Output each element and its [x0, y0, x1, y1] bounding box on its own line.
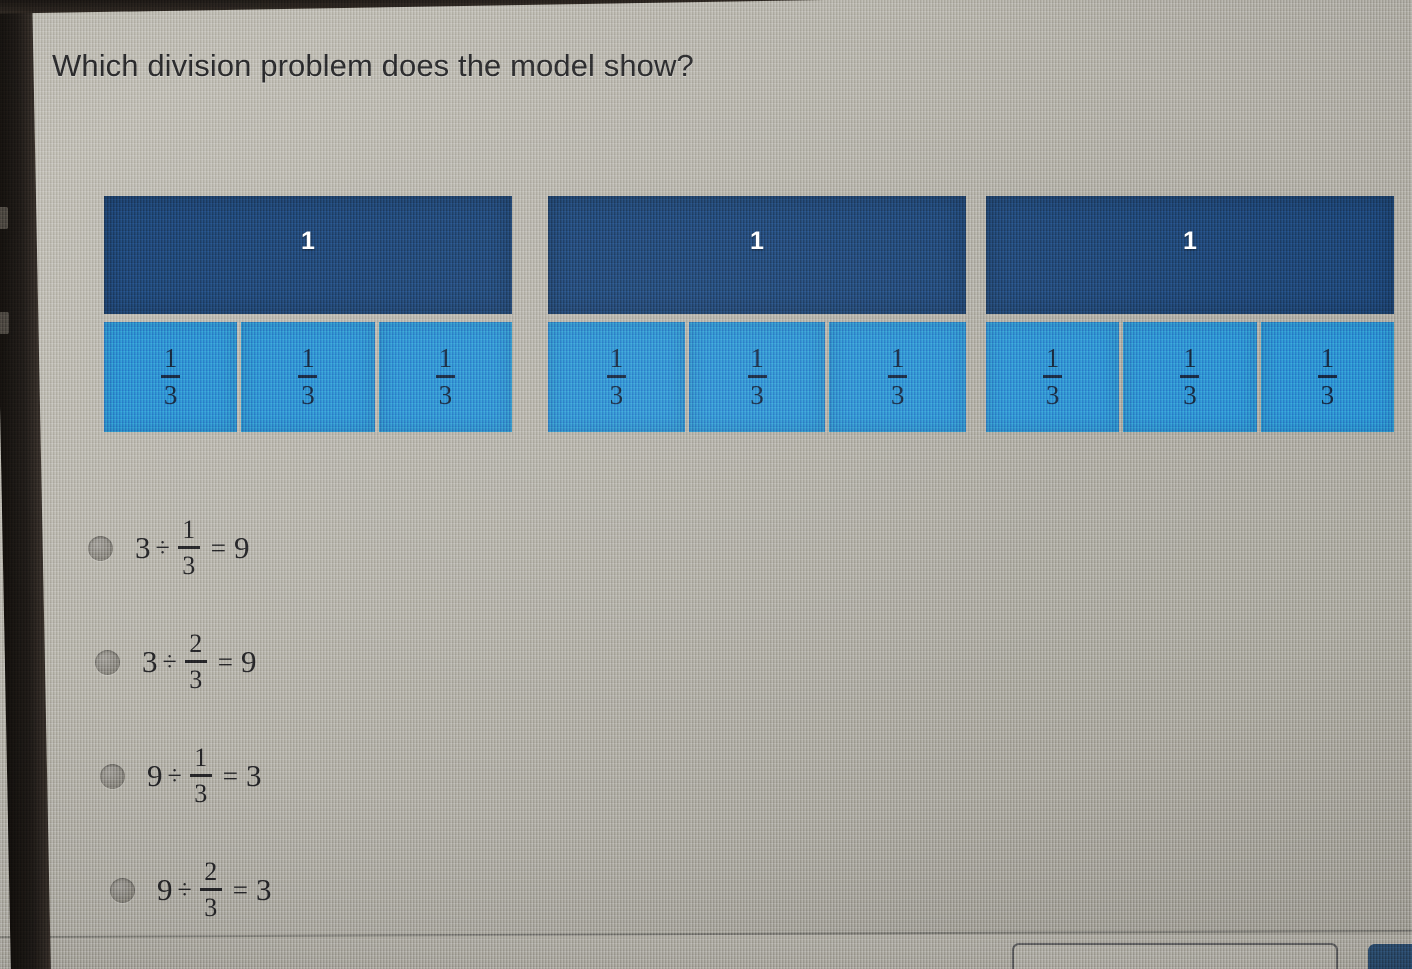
fraction-denominator: 3 [204, 892, 217, 921]
page-title: Which division problem does the model sh… [52, 48, 694, 84]
fraction-denominator: 3 [1321, 379, 1335, 409]
answer-option-label: 9 ÷ 2 3 = 3 [157, 859, 272, 921]
bar-group: 1 1 3 1 3 [104, 196, 512, 432]
fraction-denominator: 3 [610, 379, 624, 409]
fraction-denominator: 3 [182, 550, 195, 579]
radio-button-icon[interactable] [110, 878, 135, 903]
part-cell: 1 3 [241, 322, 374, 432]
fraction-denominator: 3 [164, 379, 178, 409]
parts-row: 1 3 1 3 1 [548, 322, 966, 432]
fraction-bar [888, 375, 907, 378]
fraction-bar [200, 888, 222, 891]
fraction-numerator: 1 [301, 345, 315, 372]
bezel-notch [0, 207, 8, 229]
whole-bar-label: 1 [750, 227, 764, 256]
dividend: 3 [135, 530, 151, 566]
fraction-bar [190, 774, 212, 777]
quotient: 3 [256, 872, 272, 908]
fraction-denominator: 3 [1046, 379, 1060, 409]
answer-option[interactable]: 3 ÷ 1 3 = 9 [88, 518, 250, 578]
fraction: 1 3 [161, 345, 180, 409]
equals-icon: = [211, 533, 226, 564]
fraction-bar [161, 375, 180, 378]
fraction-numerator: 1 [610, 345, 624, 372]
part-cell: 1 3 [1123, 322, 1256, 432]
part-cell: 1 3 [379, 322, 512, 432]
fraction-bar [607, 375, 626, 378]
divisor-fraction: 1 3 [190, 745, 212, 807]
divisor-fraction: 2 3 [185, 631, 207, 693]
bar-group: 1 1 3 1 3 [548, 196, 966, 432]
whole-bar: 1 [986, 196, 1394, 314]
parts-row: 1 3 1 3 1 [986, 322, 1394, 432]
fraction-bar [298, 375, 317, 378]
fraction-denominator: 3 [1183, 379, 1197, 409]
answer-option[interactable]: 9 ÷ 2 3 = 3 [110, 860, 272, 920]
radio-button-icon[interactable] [100, 764, 125, 789]
fraction-denominator: 3 [194, 778, 207, 807]
fraction: 1 3 [1318, 345, 1337, 409]
fraction-numerator: 1 [1321, 345, 1335, 372]
whole-bar: 1 [104, 196, 512, 314]
answer-option-label: 3 ÷ 2 3 = 9 [142, 631, 257, 693]
screenshot-root: Which division problem does the model sh… [0, 0, 1412, 969]
part-cell: 1 3 [689, 322, 826, 432]
fraction-numerator: 1 [1183, 345, 1197, 372]
quotient: 9 [234, 530, 250, 566]
fraction: 1 3 [607, 345, 626, 409]
equals-icon: = [218, 647, 233, 678]
bezel-notch [0, 312, 9, 334]
fraction-denominator: 3 [189, 664, 202, 693]
fraction-numerator: 1 [182, 517, 195, 543]
radio-button-icon[interactable] [95, 650, 120, 675]
radio-button-icon[interactable] [88, 536, 113, 561]
part-cell: 1 3 [548, 322, 685, 432]
fraction-bar [748, 375, 767, 378]
fraction-numerator: 2 [204, 859, 217, 885]
answer-option-label: 9 ÷ 1 3 = 3 [147, 745, 262, 807]
fraction-numerator: 1 [891, 345, 905, 372]
fraction-bar [1180, 375, 1199, 378]
fraction-numerator: 1 [439, 345, 453, 372]
primary-action-button[interactable] [1368, 944, 1412, 969]
fraction-denominator: 3 [891, 379, 905, 409]
bar-group: 1 1 3 1 3 [986, 196, 1394, 432]
divisor-fraction: 1 3 [178, 517, 200, 579]
divide-icon: ÷ [163, 647, 177, 677]
dividend: 3 [142, 644, 158, 680]
quiz-content: Which division problem does the model sh… [0, 0, 1412, 969]
divide-icon: ÷ [156, 533, 170, 563]
secondary-action-button[interactable] [1012, 943, 1338, 969]
answer-option[interactable]: 9 ÷ 1 3 = 3 [100, 746, 262, 806]
fraction-bar [185, 660, 207, 663]
fraction-bar [178, 546, 200, 549]
fraction-denominator: 3 [439, 379, 453, 409]
fraction: 1 3 [748, 345, 767, 409]
fraction-denominator: 3 [301, 379, 315, 409]
fraction-bar-model: 1 1 3 1 3 [0, 196, 1412, 441]
fraction-denominator: 3 [750, 379, 764, 409]
answer-option[interactable]: 3 ÷ 2 3 = 9 [95, 632, 257, 692]
part-cell: 1 3 [1261, 322, 1394, 432]
whole-bar: 1 [548, 196, 966, 314]
dividend: 9 [147, 758, 163, 794]
parts-row: 1 3 1 3 1 [104, 322, 512, 432]
fraction: 1 3 [888, 345, 907, 409]
equals-icon: = [233, 875, 248, 906]
fraction: 1 3 [298, 345, 317, 409]
divide-icon: ÷ [178, 875, 192, 905]
fraction: 1 3 [436, 345, 455, 409]
part-cell: 1 3 [104, 322, 237, 432]
fraction: 1 3 [1180, 345, 1199, 409]
divide-icon: ÷ [168, 761, 182, 791]
part-cell: 1 3 [986, 322, 1119, 432]
quotient: 3 [246, 758, 262, 794]
divisor-fraction: 2 3 [200, 859, 222, 921]
fraction-bar [1318, 375, 1337, 378]
fraction-bar [436, 375, 455, 378]
quotient: 9 [241, 644, 257, 680]
fraction-numerator: 1 [164, 345, 178, 372]
fraction: 1 3 [1043, 345, 1062, 409]
part-cell: 1 3 [829, 322, 966, 432]
equals-icon: = [223, 761, 238, 792]
answer-option-label: 3 ÷ 1 3 = 9 [135, 517, 250, 579]
fraction-numerator: 1 [750, 345, 764, 372]
whole-bar-label: 1 [301, 227, 315, 256]
fraction-bar [1043, 375, 1062, 378]
dividend: 9 [157, 872, 173, 908]
fraction-numerator: 1 [1046, 345, 1060, 372]
whole-bar-label: 1 [1183, 227, 1197, 256]
fraction-numerator: 2 [189, 631, 202, 657]
fraction-numerator: 1 [194, 745, 207, 771]
